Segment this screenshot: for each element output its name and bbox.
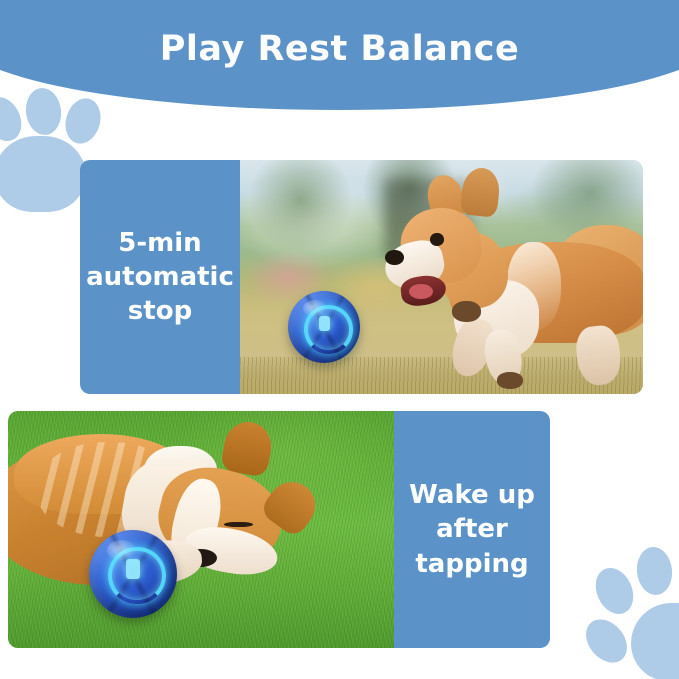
glowing-blue-ball (89, 530, 177, 618)
dog-eye (430, 233, 443, 246)
ball-highlight (303, 300, 327, 317)
dog-nose (385, 250, 404, 265)
feature-row-auto-stop: 5-min automatic stop (80, 160, 643, 394)
paw-pad (0, 136, 86, 212)
caption-text: Wake up after tapping (399, 478, 545, 581)
caption-panel-wake-up: Wake up after tapping (394, 411, 550, 648)
glowing-blue-ball (288, 291, 360, 363)
paw-print-icon-bottom-right (597, 545, 679, 671)
dog-hind-leg (574, 324, 622, 387)
paw-pad (631, 603, 679, 679)
dog-paw (497, 372, 524, 389)
caption-text: 5-min automatic stop (80, 226, 244, 329)
power-symbol-icon (319, 316, 331, 332)
dog-ear (460, 166, 502, 218)
paw-toe (578, 611, 636, 670)
running-corgi (385, 179, 643, 390)
dog-tongue (409, 284, 433, 299)
paw-toe (635, 545, 675, 596)
paw-toe (23, 86, 63, 137)
paw-toe (60, 94, 105, 148)
caption-panel-auto-stop: 5-min automatic stop (80, 160, 240, 394)
sleeping-corgi-photo (8, 411, 394, 648)
dog-paw (452, 301, 481, 322)
feature-row-wake-up: Wake up after tapping (8, 411, 550, 648)
product-feature-graphic: Play Rest Balance 5-min automatic stop (0, 0, 679, 679)
ball-highlight (107, 540, 137, 561)
power-symbol-icon (126, 559, 140, 578)
running-corgi-photo (240, 160, 643, 394)
background-tree (248, 160, 353, 254)
sleeping-corgi (8, 430, 348, 629)
paw-toe (589, 562, 640, 620)
page-title: Play Rest Balance (0, 29, 679, 69)
